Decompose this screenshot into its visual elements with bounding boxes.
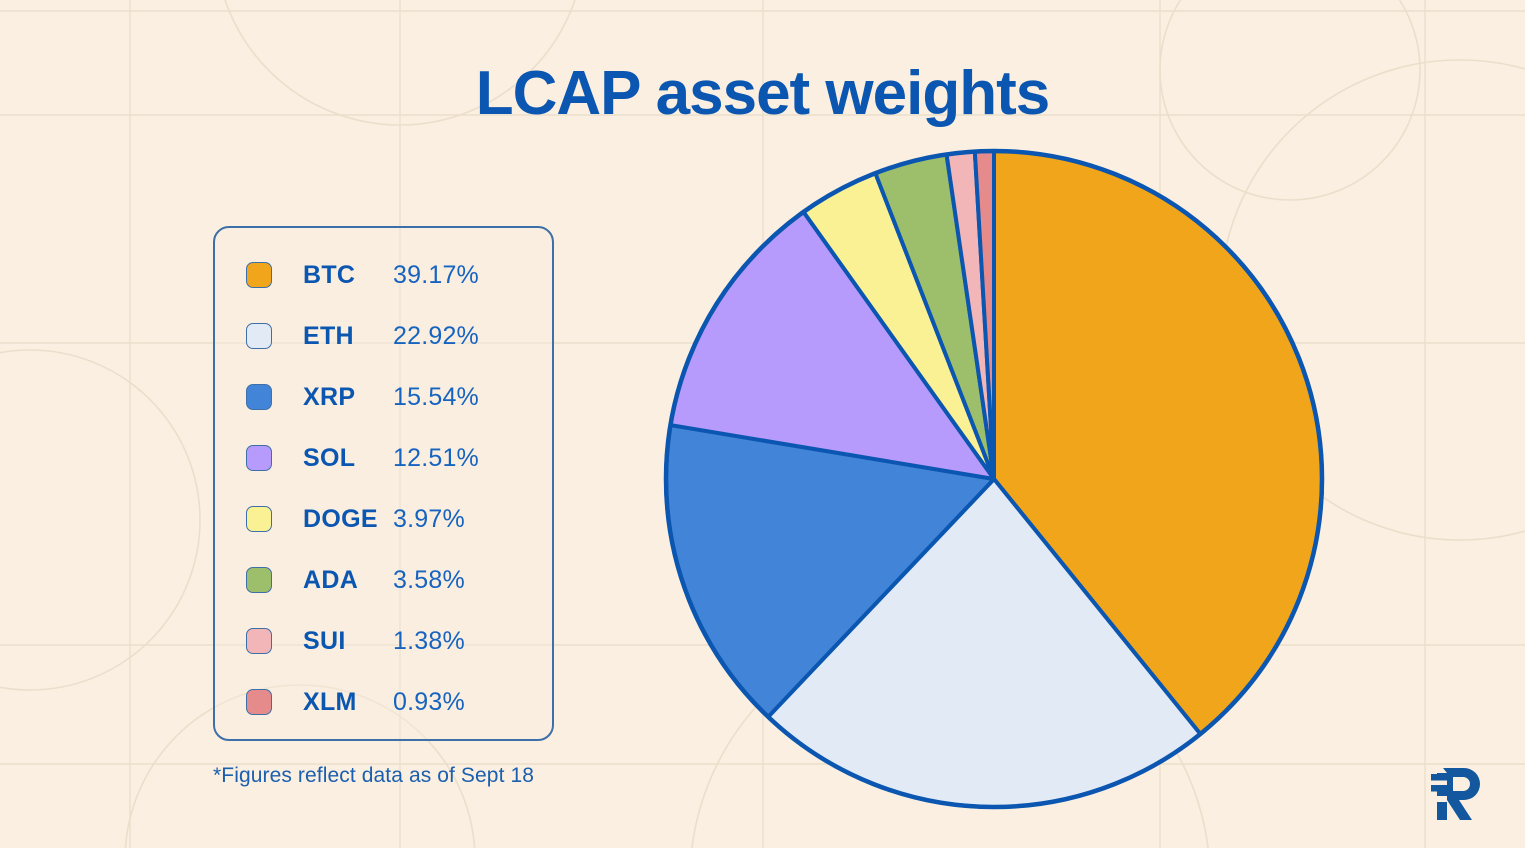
reserve-r-logo [1427, 756, 1491, 820]
legend-row-ada[interactable]: ADA 3.58% [246, 565, 536, 595]
slide-canvas: LCAP asset weights BTC 39.17% ETH 22.92%… [0, 0, 1525, 848]
legend-swatch-doge [246, 506, 272, 532]
legend-row-sui[interactable]: SUI 1.38% [246, 626, 536, 656]
legend-row-eth[interactable]: ETH 22.92% [246, 321, 536, 351]
legend-row-xlm[interactable]: XLM 0.93% [246, 687, 536, 717]
legend-row-sol[interactable]: SOL 12.51% [246, 443, 536, 473]
legend-value-sol: 12.51% [393, 444, 479, 473]
legend-swatch-btc [246, 262, 272, 288]
legend-value-sui: 1.38% [393, 627, 465, 656]
pie-chart [656, 141, 1332, 817]
legend-swatch-eth [246, 323, 272, 349]
legend-label-doge: DOGE [303, 505, 393, 534]
legend-label-btc: BTC [303, 261, 393, 290]
legend-value-ada: 3.58% [393, 566, 465, 595]
legend-label-sui: SUI [303, 627, 393, 656]
footnote: *Figures reflect data as of Sept 18 [213, 764, 534, 788]
legend-label-eth: ETH [303, 322, 393, 351]
page-title: LCAP asset weights [0, 58, 1525, 129]
legend-row-doge[interactable]: DOGE 3.97% [246, 504, 536, 534]
legend-swatch-sol [246, 445, 272, 471]
legend-value-eth: 22.92% [393, 322, 479, 351]
legend-swatch-xrp [246, 384, 272, 410]
legend-row-xrp[interactable]: XRP 15.54% [246, 382, 536, 412]
pie-chart-svg [656, 141, 1332, 817]
legend-row-btc[interactable]: BTC 39.17% [246, 260, 536, 290]
legend-swatch-sui [246, 628, 272, 654]
legend-value-xrp: 15.54% [393, 383, 479, 412]
legend-value-btc: 39.17% [393, 261, 479, 290]
legend-value-doge: 3.97% [393, 505, 465, 534]
legend-label-xrp: XRP [303, 383, 393, 412]
legend-label-ada: ADA [303, 566, 393, 595]
legend-label-xlm: XLM [303, 688, 393, 717]
legend-swatch-xlm [246, 689, 272, 715]
legend-value-xlm: 0.93% [393, 688, 465, 717]
legend-swatch-ada [246, 567, 272, 593]
legend-card: BTC 39.17% ETH 22.92% XRP 15.54% SOL 12.… [213, 226, 554, 741]
legend-label-sol: SOL [303, 444, 393, 473]
